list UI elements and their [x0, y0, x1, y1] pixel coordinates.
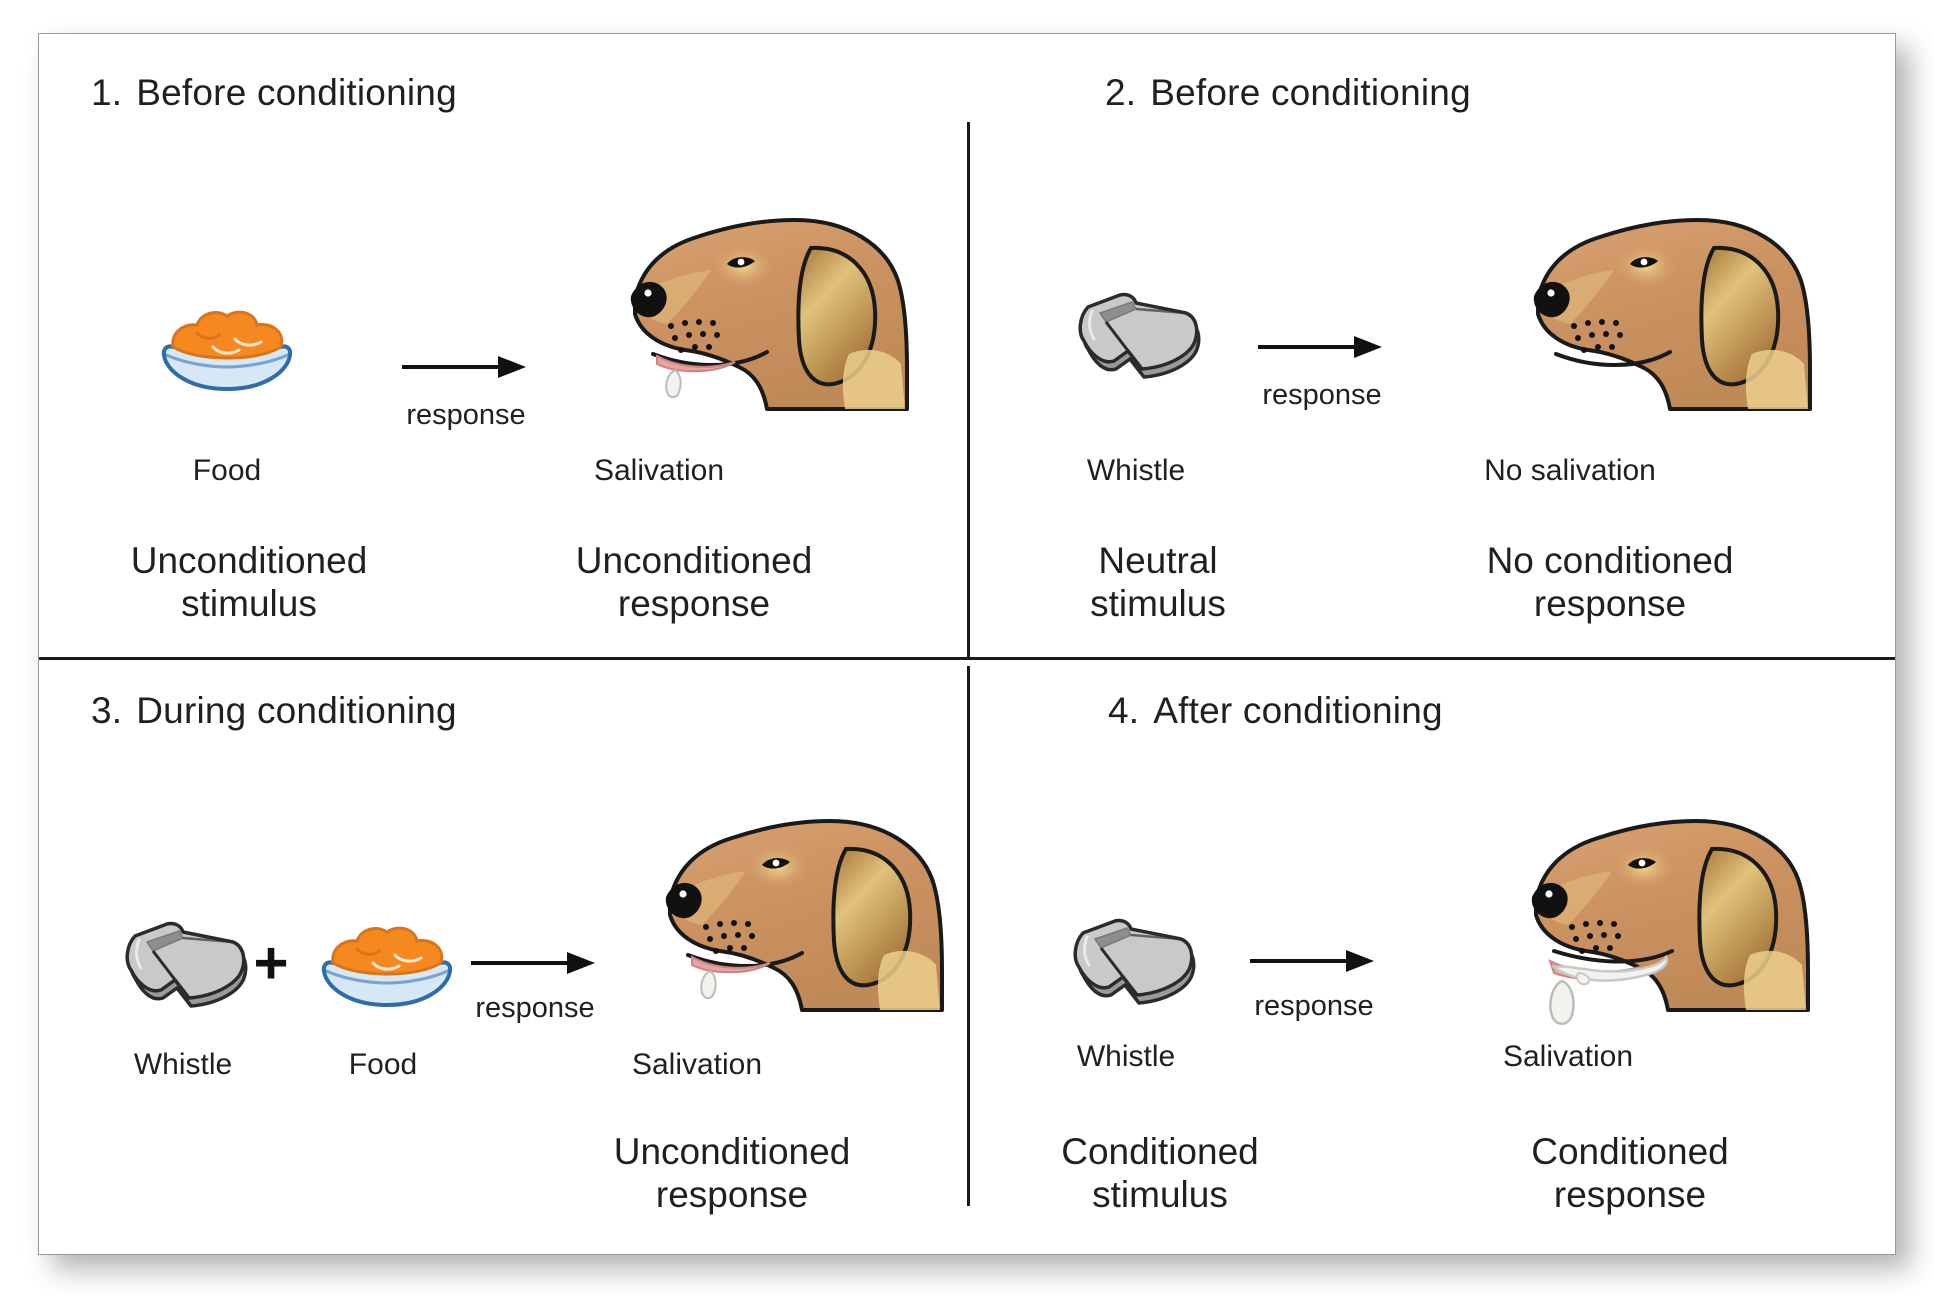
panel-3-response-arrow	[471, 950, 596, 976]
panel-2-title-text: Before conditioning	[1150, 72, 1471, 113]
panel-4-stimulus-label-line1: Conditioned	[1061, 1130, 1258, 1173]
conditioning-figure-card: 1.Before conditioning Food response	[38, 33, 1896, 1255]
plus-icon: +	[253, 929, 288, 998]
panel-4-number: 4.	[1108, 690, 1139, 731]
panel-2-stimulus-label: Neutral stimulus	[1090, 539, 1226, 626]
panel-1: 1.Before conditioning Food response	[39, 34, 967, 657]
panel-4-response-caption: Salivation	[1503, 1040, 1633, 1074]
panel-4-response-arrow	[1250, 948, 1375, 974]
panel-1-response-caption: Salivation	[594, 454, 724, 488]
panel-4-response-label-line1: Conditioned	[1531, 1130, 1728, 1173]
dog-head-salivating-icon	[549, 174, 949, 409]
panel-3-stimulus-caption: Whistle	[134, 1048, 232, 1082]
panel-4-stimulus-caption: Whistle	[1077, 1040, 1175, 1074]
panel-3-stimulus2-caption: Food	[349, 1048, 417, 1082]
panel-1-title: 1.Before conditioning	[91, 72, 457, 114]
panel-2: 2.Before conditioning Whistle	[970, 34, 1895, 657]
panel-2-response-arrow	[1258, 334, 1383, 360]
panel-4: 4.After conditioning Whistle response	[970, 660, 1895, 1206]
panel-4-response-label: Conditioned response	[1531, 1130, 1728, 1217]
panel-3-response-caption: Salivation	[632, 1048, 762, 1082]
panel-4-arrow-label: response	[1254, 990, 1373, 1023]
panel-1-stimulus-label-line1: Unconditioned	[131, 539, 368, 582]
panel-4-response-label-line2: response	[1531, 1173, 1728, 1216]
panel-3: 3.During conditioning Whistle +	[39, 660, 967, 1206]
panel-1-title-text: Before conditioning	[136, 72, 457, 113]
panel-2-response-label-line1: No conditioned	[1487, 539, 1734, 582]
panel-2-stimulus-label-line1: Neutral	[1090, 539, 1226, 582]
panel-3-response-label-line2: response	[614, 1173, 851, 1216]
panel-1-response-arrow	[402, 354, 527, 380]
food-bowl-icon	[317, 925, 457, 1010]
whistle-icon	[1065, 915, 1200, 1010]
panel-2-stimulus-label-line2: stimulus	[1090, 582, 1226, 625]
panel-2-arrow-label: response	[1262, 379, 1381, 412]
panel-3-arrow-label: response	[475, 992, 594, 1025]
panel-1-response-label-line2: response	[576, 582, 813, 625]
panel-2-response-label-line2: response	[1487, 582, 1734, 625]
panel-1-arrow-label: response	[406, 399, 525, 432]
panel-3-number: 3.	[91, 690, 122, 731]
dog-head-drooling-icon	[1450, 775, 1850, 1010]
dog-head-salivating-icon	[584, 775, 984, 1010]
panel-1-stimulus-caption: Food	[193, 454, 261, 488]
panel-3-title-text: During conditioning	[136, 690, 457, 731]
food-bowl-icon	[157, 309, 297, 394]
panel-3-response-label: Unconditioned response	[614, 1130, 851, 1217]
panel-1-number: 1.	[91, 72, 122, 113]
panel-2-response-label: No conditioned response	[1487, 539, 1734, 626]
panel-2-title: 2.Before conditioning	[1105, 72, 1471, 114]
panel-2-response-caption: No salivation	[1484, 454, 1656, 488]
panel-3-response-label-line1: Unconditioned	[614, 1130, 851, 1173]
panel-1-stimulus-label: Unconditioned stimulus	[131, 539, 368, 626]
panel-4-title-text: After conditioning	[1153, 690, 1443, 731]
panel-1-response-label-line1: Unconditioned	[576, 539, 813, 582]
panel-1-stimulus-label-line2: stimulus	[131, 582, 368, 625]
panel-4-stimulus-label: Conditioned stimulus	[1061, 1130, 1258, 1217]
panel-2-number: 2.	[1105, 72, 1136, 113]
panel-4-stimulus-label-line2: stimulus	[1061, 1173, 1258, 1216]
panel-2-stimulus-caption: Whistle	[1087, 454, 1185, 488]
panel-1-response-label: Unconditioned response	[576, 539, 813, 626]
whistle-icon	[1070, 289, 1205, 384]
panel-3-title: 3.During conditioning	[91, 690, 457, 732]
dog-head-icon	[1452, 174, 1852, 409]
panel-4-title: 4.After conditioning	[1108, 690, 1443, 732]
whistle-icon	[117, 918, 252, 1013]
